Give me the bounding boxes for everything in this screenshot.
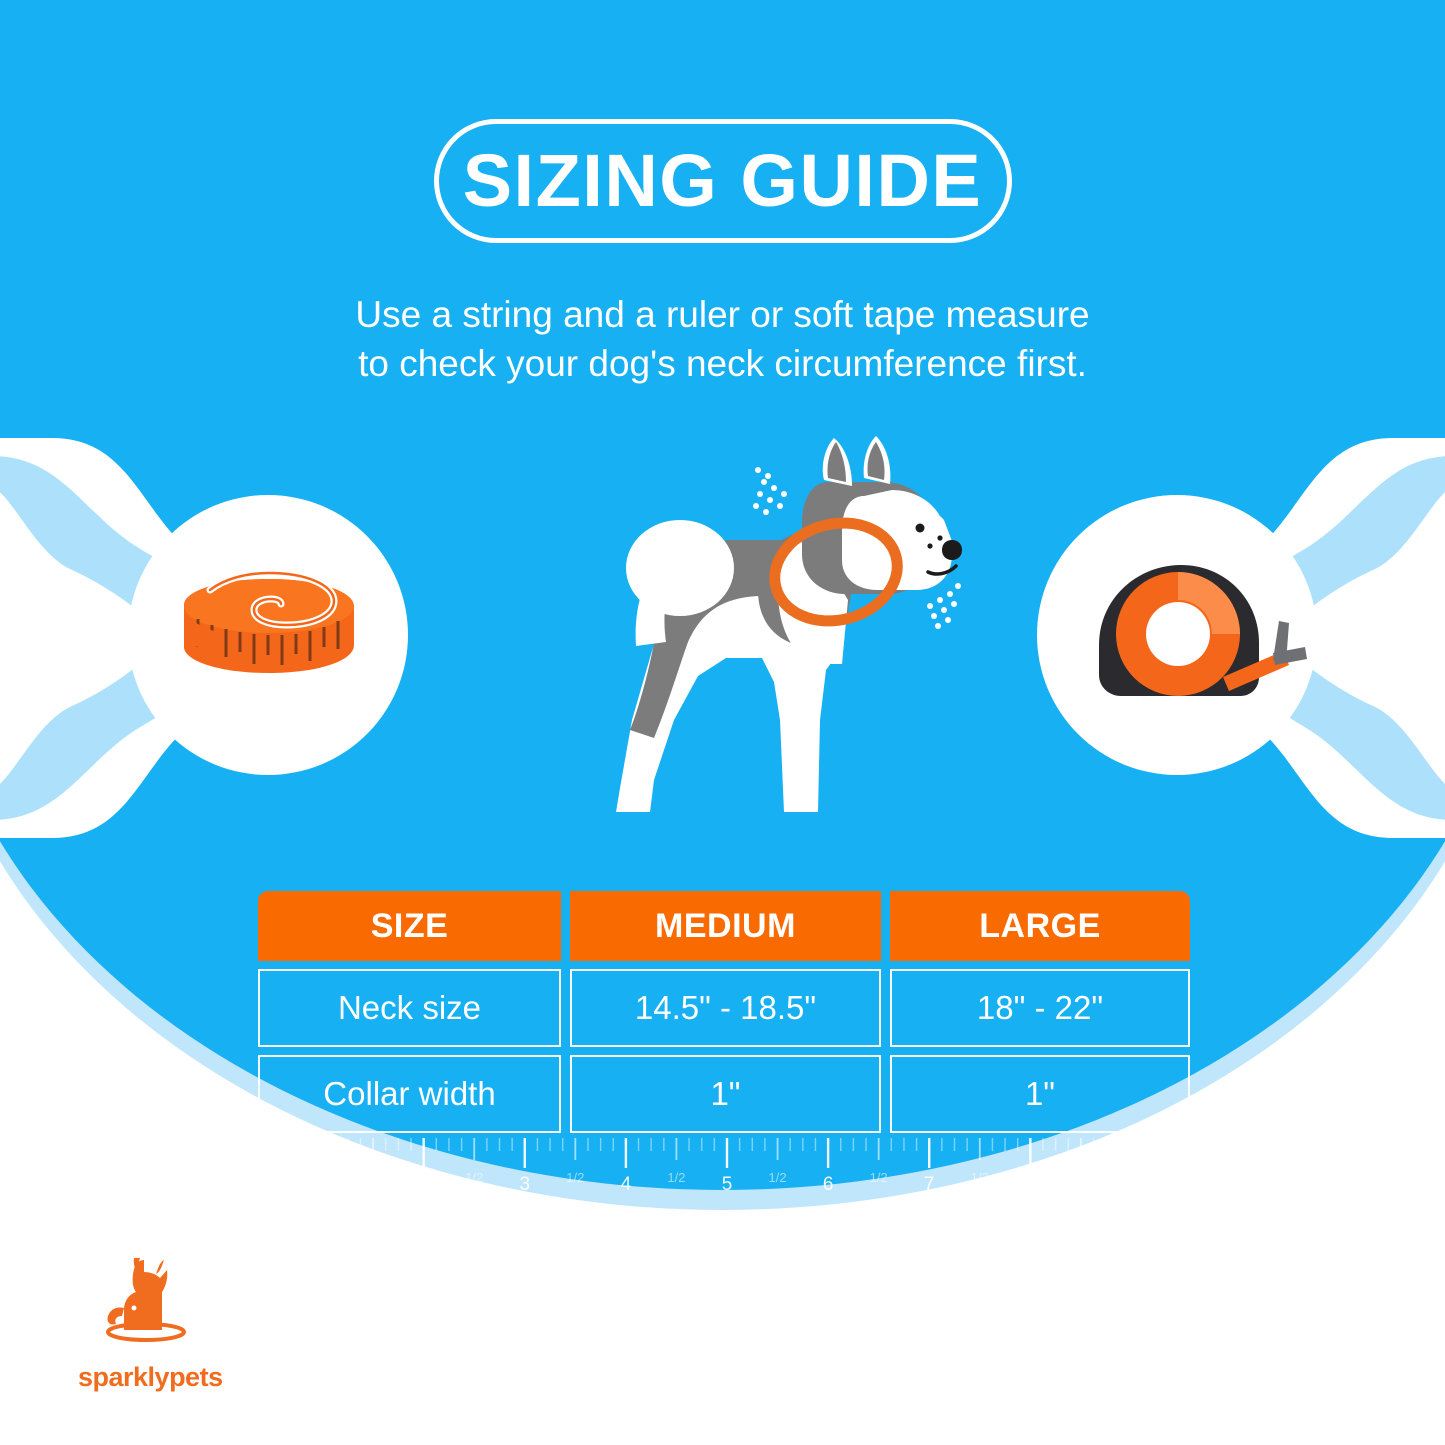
collar-width-medium: 1": [570, 1055, 881, 1133]
sizing-guide-infographic: SIZING GUIDE Use a string and a ruler or…: [0, 0, 1445, 1445]
page-title: SIZING GUIDE: [463, 144, 983, 218]
ruler-label: 1/2: [566, 1170, 584, 1185]
row-label-neck-size: Neck size: [258, 969, 561, 1047]
size-chart-table: SIZE MEDIUM LARGE Neck size 14.5" - 18.5…: [258, 891, 1190, 1133]
sparklypets-dog-icon: [92, 1252, 200, 1356]
header-medium: MEDIUM: [570, 891, 881, 961]
neck-size-medium: 14.5" - 18.5": [570, 969, 881, 1047]
ruler-label: 1/2: [870, 1170, 888, 1185]
ruler-label: 1/2: [1173, 1170, 1191, 1185]
header-large: LARGE: [890, 891, 1190, 961]
sparkle-dots-icon: [753, 467, 787, 515]
soft-tape-measure-icon: [184, 573, 354, 673]
subtitle-line-1: Use a string and a ruler or soft tape me…: [0, 291, 1445, 340]
retractable-tape-measure-icon: [1099, 565, 1307, 696]
sparkle-dots-icon-right: [927, 583, 961, 629]
brand-logo: sparklypets: [78, 1252, 278, 1400]
row-label-collar-width: Collar width: [258, 1055, 561, 1133]
ruler-label: 1/2: [667, 1170, 685, 1185]
subtitle-line-2: to check your dog's neck circumference f…: [0, 340, 1445, 389]
table-row: Neck size 14.5" - 18.5" 18" - 22": [258, 969, 1190, 1047]
neck-size-large: 18" - 22": [890, 969, 1190, 1047]
title-pill: SIZING GUIDE: [434, 119, 1012, 243]
ruler-label: 1/2: [769, 1170, 787, 1185]
ruler-label: 1: [317, 1174, 328, 1195]
ruler-label: 6: [823, 1174, 834, 1195]
table-row: Collar width 1" 1": [258, 1055, 1190, 1133]
ruler-label: 4: [621, 1174, 632, 1195]
ruler-label: 3: [519, 1174, 530, 1195]
ruler-label: 1/2: [971, 1170, 989, 1185]
retractable-tape-measure-badge: [1037, 495, 1317, 775]
ruler-label: 7: [924, 1174, 935, 1195]
brand-wordmark: sparklypets: [78, 1362, 278, 1393]
collar-width-large: 1": [890, 1055, 1190, 1133]
ruler-label: 9: [1126, 1174, 1137, 1195]
ruler-label: 2: [418, 1174, 429, 1195]
header-size: SIZE: [258, 891, 561, 961]
subtitle: Use a string and a ruler or soft tape me…: [0, 291, 1445, 389]
soft-tape-measure-badge: [128, 495, 408, 775]
ruler-label: 1/2: [263, 1170, 281, 1185]
ruler-label: 1/2: [1072, 1170, 1090, 1185]
table-header-row: SIZE MEDIUM LARGE: [258, 891, 1190, 961]
ruler-label: 8: [1025, 1174, 1036, 1195]
ruler-label: 5: [722, 1174, 733, 1195]
ruler-label: 1/2: [364, 1170, 382, 1185]
dog-illustration: [512, 420, 972, 840]
ruler-graphic: 1/211/221/231/241/251/261/271/281/291/2: [262, 1136, 1192, 1204]
dog-head: [802, 436, 962, 594]
ruler-label: 1/2: [465, 1170, 483, 1185]
